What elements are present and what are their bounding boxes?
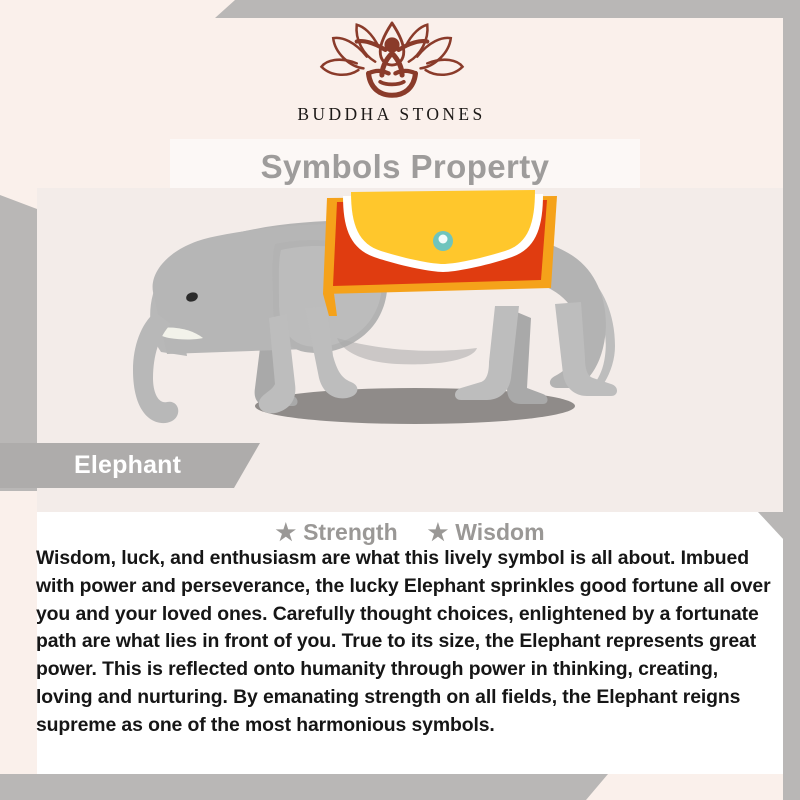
attribute-label: Wisdom [455,519,544,546]
decor-top-bar [215,0,800,18]
lotus-meditation-icon [308,18,476,102]
symbol-property-card: BUDDHA STONES Symbols Property [0,0,800,800]
attribute-strength: ★ Strength [275,519,397,546]
attribute-label: Strength [303,519,398,546]
decor-right-bar [783,0,800,800]
attribute-wisdom: ★ Wisdom [428,519,545,546]
brand-logo: BUDDHA STONES [0,18,783,138]
star-icon: ★ [275,521,296,544]
description-text: Wisdom, luck, and enthusiasm are what th… [36,545,778,739]
page-title: Symbols Property [170,139,640,195]
star-icon: ★ [428,521,449,544]
decor-bottom-bar [0,774,608,800]
symbol-name: Elephant [74,443,181,488]
symbol-name-banner: Elephant [0,443,260,488]
brand-name: BUDDHA STONES [297,104,485,125]
